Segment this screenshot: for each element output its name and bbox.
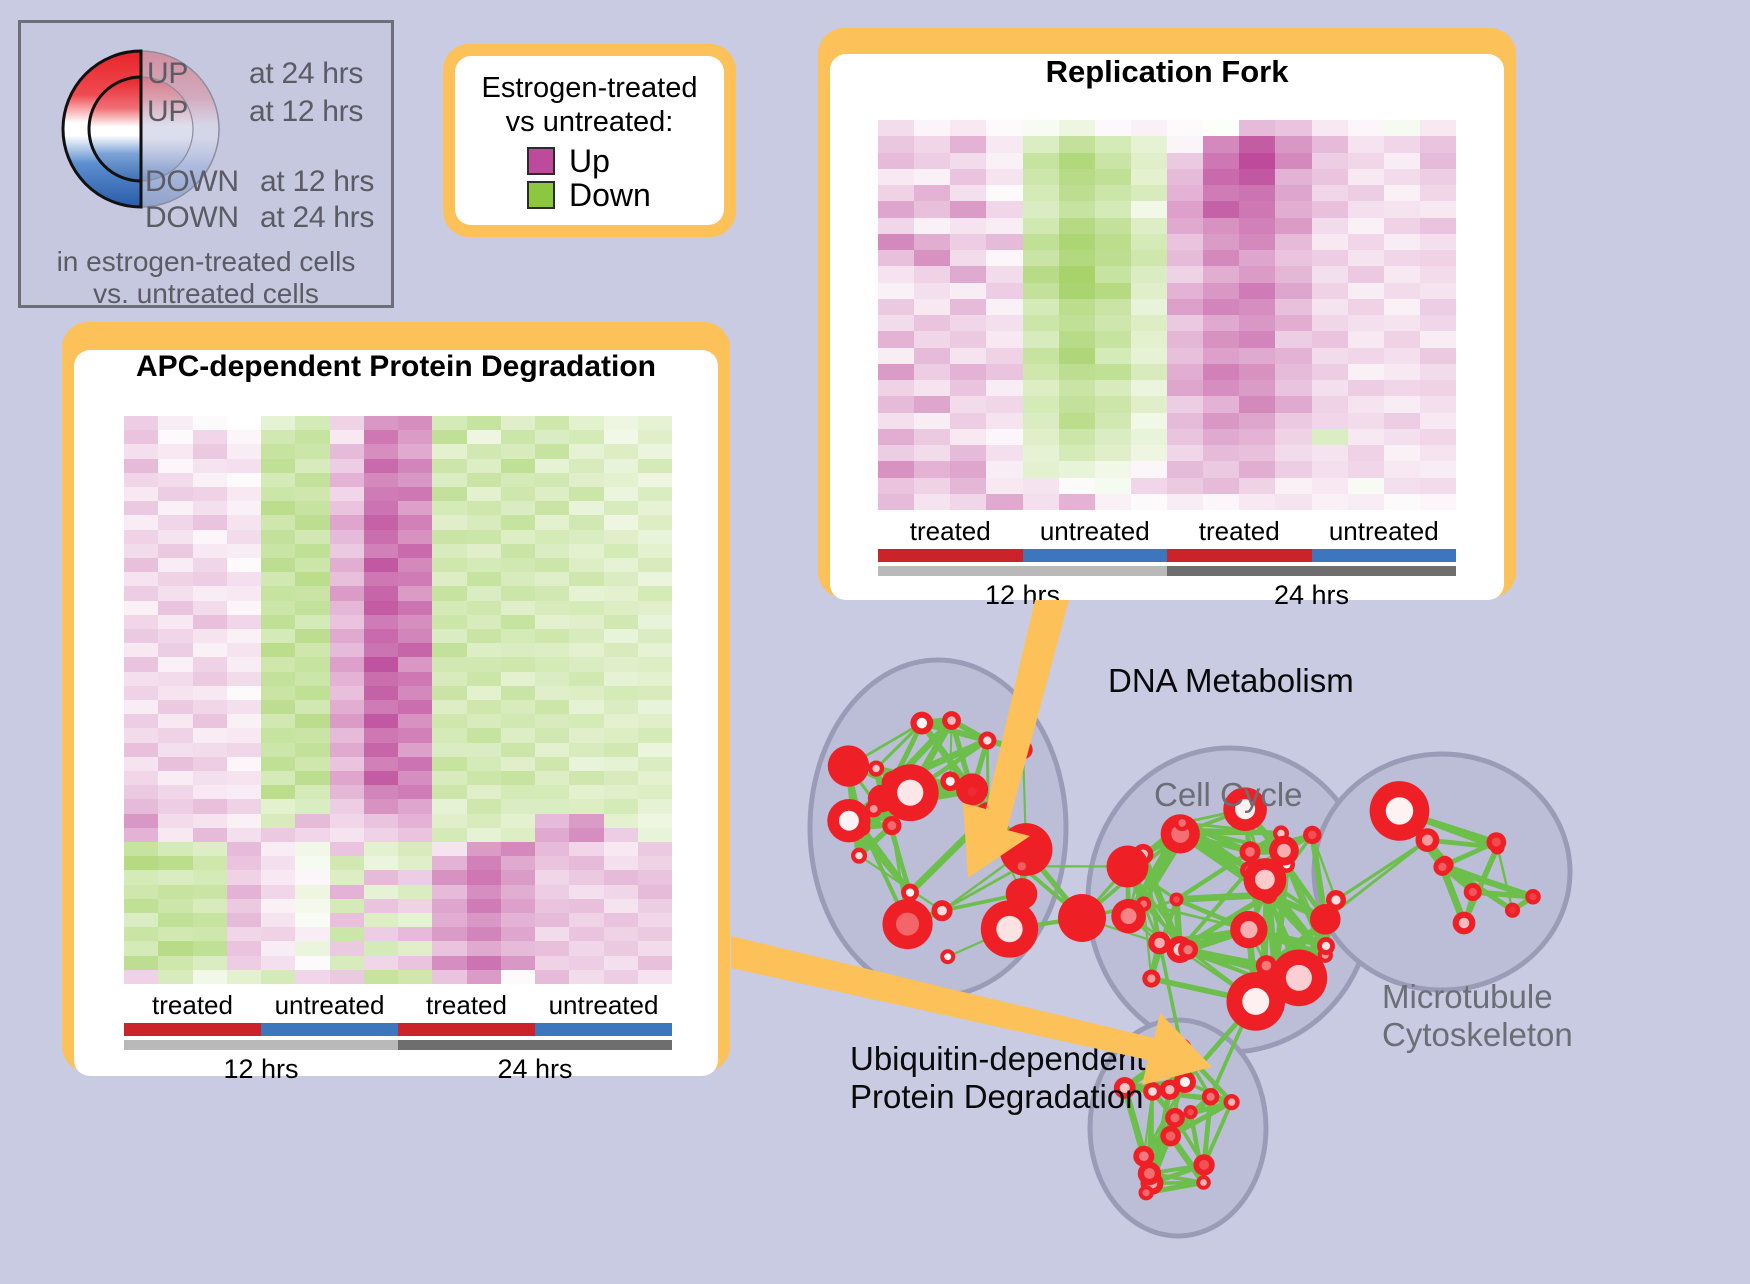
heatmap-cell [1167, 380, 1203, 396]
heatmap-cell [1095, 185, 1131, 201]
key-item-up: Up [527, 145, 724, 177]
heatmap-cell [535, 530, 569, 544]
heatmap-cell [467, 657, 501, 671]
heatmap-cell [1348, 461, 1384, 477]
heatmap-cell [604, 515, 638, 529]
network-node-core [1242, 988, 1269, 1015]
heatmap-cell [330, 459, 364, 473]
heatmap-cell [1348, 218, 1384, 234]
heatmap-cell [1420, 445, 1456, 461]
legend-row-1-time: at 12 hrs [249, 95, 363, 129]
heatmap-cell [604, 814, 638, 828]
heatmap-cell [227, 757, 261, 771]
heatmap-cell [638, 771, 672, 785]
heatmap-cell [950, 413, 986, 429]
heatmap-cell [1239, 461, 1275, 477]
heatmap-cell [1023, 153, 1059, 169]
heatmap-cell [295, 728, 329, 742]
heatmap-cell [1131, 364, 1167, 380]
heatmap-cell [604, 459, 638, 473]
heatmap-cell [1023, 494, 1059, 510]
heatmap-cell [638, 885, 672, 899]
time-color-bar [398, 1040, 672, 1050]
heatmap-cell [1384, 364, 1420, 380]
heatmap-cell [432, 686, 466, 700]
heatmap-cell [501, 927, 535, 941]
heatmap-cell [261, 743, 295, 757]
key-item-down-label: Down [569, 179, 651, 211]
heatmap-cell [914, 331, 950, 347]
heatmap-cell [1203, 478, 1239, 494]
heatmap-cell [878, 283, 914, 299]
heatmap-cell [604, 828, 638, 842]
heatmap-cell [364, 828, 398, 842]
network-node-core [1386, 797, 1413, 824]
network-node-core [996, 916, 1022, 942]
heatmap-cell [398, 814, 432, 828]
heatmap-cell [914, 380, 950, 396]
network-node-core [1166, 1131, 1176, 1141]
network-node-core [1148, 1087, 1157, 1096]
heatmap-cell [501, 941, 535, 955]
network-node-core [896, 913, 919, 936]
heatmap-cell [1239, 218, 1275, 234]
heatmap-cell [569, 459, 603, 473]
heatmap-cell [193, 842, 227, 856]
heatmap-cell [295, 601, 329, 615]
heatmap-cell [124, 586, 158, 600]
heatmap-cell [227, 799, 261, 813]
heatmap-cell [193, 430, 227, 444]
group-color-bar [124, 1023, 261, 1036]
axis-group-label: untreated [1023, 516, 1168, 547]
heatmap-cell [986, 331, 1022, 347]
heatmap-cell [158, 913, 192, 927]
heatmap-cell [1059, 380, 1095, 396]
heatmap-cell [261, 856, 295, 870]
legend-row-2-label: DOWN [145, 165, 239, 199]
heatmap-cell [193, 629, 227, 643]
heatmap-cell [638, 643, 672, 657]
heatmap-cell [467, 501, 501, 515]
heatmap-cell [1203, 218, 1239, 234]
heatmap-cell [261, 515, 295, 529]
heatmap-cell [1384, 348, 1420, 364]
heatmap-cell [1348, 348, 1384, 364]
heatmap-cell [1348, 201, 1384, 217]
network-node [851, 848, 867, 864]
heatmap-cell [638, 501, 672, 515]
heatmap-cell [878, 120, 914, 136]
heatmap-cell [330, 530, 364, 544]
heatmap-cell [432, 700, 466, 714]
heatmap-cell [295, 828, 329, 842]
network-node [931, 900, 952, 921]
heatmap-cell [193, 643, 227, 657]
heatmap-cell [501, 757, 535, 771]
axis-group-label: treated [878, 516, 1023, 547]
heatmap-cell [227, 856, 261, 870]
group-color-bar [398, 1023, 535, 1036]
heatmap-cell [501, 672, 535, 686]
heatmap-cell [398, 941, 432, 955]
heatmap-cell [1384, 494, 1420, 510]
heatmap-cell [158, 558, 192, 572]
heatmap-cell [193, 558, 227, 572]
heatmap-cell [1131, 315, 1167, 331]
heatmap-cell [193, 586, 227, 600]
heatmap-cell [227, 657, 261, 671]
heatmap-cell [604, 956, 638, 970]
heatmap-cell [330, 799, 364, 813]
heatmap-cell [535, 416, 569, 430]
heatmap-cell [330, 828, 364, 842]
heatmap-cell [1095, 120, 1131, 136]
heatmap-cell [398, 515, 432, 529]
network-node-core [1139, 1151, 1149, 1161]
network-node-core [1183, 945, 1192, 954]
heatmap-cell [1095, 348, 1131, 364]
axis-group-label: treated [124, 990, 261, 1021]
heatmap-cell [986, 299, 1022, 315]
heatmap-cell [878, 234, 914, 250]
network-node [827, 799, 870, 842]
heatmap-cell [330, 657, 364, 671]
heatmap-cell [158, 885, 192, 899]
heatmap-cell [193, 544, 227, 558]
heatmap-cell [950, 445, 986, 461]
heatmap-cell [330, 814, 364, 828]
heatmap-cell [1095, 364, 1131, 380]
heatmap-cell [914, 396, 950, 412]
heatmap-cell [1420, 120, 1456, 136]
heatmap-cell [467, 714, 501, 728]
heatmap-cell [124, 714, 158, 728]
heatmap-cell [364, 956, 398, 970]
heatmap-cell [364, 629, 398, 643]
heatmap-cell [1312, 120, 1348, 136]
heatmap-cell [501, 501, 535, 515]
heatmap-cell [227, 487, 261, 501]
time-color-bar [124, 1040, 398, 1050]
heatmap-cell [158, 842, 192, 856]
heatmap-cell [501, 615, 535, 629]
heatmap-cell [193, 515, 227, 529]
network-node-core [1277, 844, 1291, 858]
heatmap-cell [1203, 413, 1239, 429]
heatmap-cell [398, 799, 432, 813]
heatmap-cell [1312, 380, 1348, 396]
heatmap-cell [604, 501, 638, 515]
heatmap-cell [1275, 331, 1311, 347]
heatmap-cell [467, 601, 501, 615]
heatmap-cell [158, 572, 192, 586]
heatmap-cell [261, 444, 295, 458]
heatmap-cell [330, 970, 364, 984]
heatmap-cell [604, 657, 638, 671]
heatmap-cell [330, 643, 364, 657]
heatmap-cell [1312, 266, 1348, 282]
heatmap-cell [398, 601, 432, 615]
heatmap-cell [193, 657, 227, 671]
heatmap-cell [261, 870, 295, 884]
heatmap-cell [986, 266, 1022, 282]
heatmap-cell [158, 814, 192, 828]
axis-group-label: untreated [535, 990, 672, 1021]
heatmap-cell [1095, 315, 1131, 331]
heatmap-cell [878, 461, 914, 477]
heatmap-cell [1239, 494, 1275, 510]
network-node-core [1245, 847, 1255, 857]
heatmap-cell [1348, 120, 1384, 136]
heatmap-cell [193, 757, 227, 771]
gradient-legend-box: UP at 24 hrs UP at 12 hrs DOWN at 12 hrs… [18, 20, 394, 308]
network-node [978, 732, 996, 750]
heatmap-cell [1203, 136, 1239, 152]
heatmap-cell [1203, 494, 1239, 510]
heatmap-cell [569, 771, 603, 785]
heatmap-cell [1167, 266, 1203, 282]
heatmap-cell [501, 771, 535, 785]
heatmap-cell [124, 913, 158, 927]
heatmap-cell [330, 771, 364, 785]
heatmap-cell [1312, 136, 1348, 152]
heatmap-cell [604, 728, 638, 742]
heatmap-cell [1203, 201, 1239, 217]
heatmap-cell [950, 234, 986, 250]
heatmap-cell [261, 416, 295, 430]
heatmap-cell [158, 643, 192, 657]
heatmap-cell [1275, 315, 1311, 331]
heatmap-cell [878, 136, 914, 152]
network-node-core [1180, 1077, 1190, 1087]
heatmap-cell [124, 657, 158, 671]
heatmap-cell [1420, 283, 1456, 299]
heatmap-cell [124, 544, 158, 558]
heatmap-cell [1384, 299, 1420, 315]
heatmap-cell [432, 430, 466, 444]
heatmap-cell [227, 743, 261, 757]
heatmap-cell [295, 799, 329, 813]
heatmap-cell [1239, 299, 1275, 315]
heatmap-cell [1203, 120, 1239, 136]
heatmap-cell [364, 785, 398, 799]
heatmap-cell [878, 201, 914, 217]
network-node-core [1154, 938, 1164, 948]
heatmap-cell [261, 885, 295, 899]
heatmap-cell [261, 799, 295, 813]
network-node-core [1322, 942, 1330, 950]
heatmap-cell [193, 799, 227, 813]
heatmap-cell [1095, 478, 1131, 494]
heatmap-cell [501, 842, 535, 856]
heatmap-cell [364, 913, 398, 927]
heatmap-cell [604, 487, 638, 501]
heatmap-cell [261, 785, 295, 799]
heatmap-cell [158, 672, 192, 686]
heatmap-cell [193, 771, 227, 785]
heatmap-cell [1095, 169, 1131, 185]
heatmap-cell [398, 657, 432, 671]
network-node [975, 802, 1001, 828]
heatmap-cell [950, 478, 986, 494]
heatmap-cell [1312, 478, 1348, 494]
heatmap-cell [1131, 299, 1167, 315]
heatmap-cell [638, 473, 672, 487]
heatmap-cell [158, 856, 192, 870]
heatmap-cell [1420, 201, 1456, 217]
heatmap-cell [1203, 331, 1239, 347]
heatmap-cell [1312, 348, 1348, 364]
heatmap-cell [330, 913, 364, 927]
axis-group-label: treated [398, 990, 535, 1021]
pathway-network: DNA Metabolism Cell Cycle Microtubule Cy… [760, 600, 1750, 1279]
heatmap-cell [569, 544, 603, 558]
heatmap-cell [1059, 153, 1095, 169]
heatmap-cell [950, 380, 986, 396]
heatmap-cell [1384, 120, 1420, 136]
heatmap-cell [124, 643, 158, 657]
heatmap-cell [1384, 234, 1420, 250]
heatmap-cell [878, 250, 914, 266]
heatmap-cell [1420, 494, 1456, 510]
heatmap-cell [432, 544, 466, 558]
heatmap-cell [295, 885, 329, 899]
heatmap-cell [330, 757, 364, 771]
heatmap-cell [227, 672, 261, 686]
network-node [981, 900, 1038, 957]
heatmap-cell [364, 672, 398, 686]
heatmap-cell [1275, 299, 1311, 315]
heatmap-cell [1275, 153, 1311, 169]
heatmap-cell [1059, 348, 1095, 364]
heatmap-cell [432, 714, 466, 728]
heatmap-cell [261, 572, 295, 586]
heatmap-cell [569, 927, 603, 941]
heatmap-cell [158, 728, 192, 742]
network-node [962, 782, 982, 802]
heatmap-cell [158, 544, 192, 558]
heatmap-cell [432, 970, 466, 984]
heatmap-cell [261, 842, 295, 856]
heatmap-cell [950, 218, 986, 234]
heatmap-cell [914, 136, 950, 152]
heatmap-cell [467, 870, 501, 884]
heatmap-cell [604, 856, 638, 870]
heatmap-cell [1131, 266, 1167, 282]
heatmap-cell [569, 870, 603, 884]
heatmap-cell [1312, 461, 1348, 477]
heatmap-cell [295, 515, 329, 529]
heatmap-cell [1131, 136, 1167, 152]
heatmap-cell [227, 501, 261, 515]
heatmap-cell [1239, 380, 1275, 396]
heatmap-cell [364, 856, 398, 870]
heatmap-cell [1239, 331, 1275, 347]
heatmap-cell [986, 120, 1022, 136]
heatmap-cell [295, 572, 329, 586]
heatmap-cell [1059, 429, 1095, 445]
heatmap-cell [914, 185, 950, 201]
heatmap-cell [535, 586, 569, 600]
axis-group-label: untreated [1312, 516, 1457, 547]
heatmap-cell [638, 515, 672, 529]
heatmap-cell [569, 785, 603, 799]
heatmap-cell [1348, 283, 1384, 299]
heatmap-cell [1095, 201, 1131, 217]
heatmap-cell [604, 899, 638, 913]
network-node [901, 884, 919, 902]
heatmap-cell [261, 430, 295, 444]
heatmap-cell [1131, 429, 1167, 445]
heatmap-cell [467, 700, 501, 714]
heatmap-cell [1420, 250, 1456, 266]
heatmap-cell [295, 785, 329, 799]
heatmap-cell [364, 771, 398, 785]
heatmap-cell [124, 444, 158, 458]
heatmap-cell [1059, 120, 1095, 136]
axis-group-label: untreated [261, 990, 398, 1021]
network-node-core [1331, 895, 1340, 904]
network-node-core [1178, 819, 1186, 827]
heatmap-cell [986, 218, 1022, 234]
heatmap-cell [364, 714, 398, 728]
heatmap-cell [569, 515, 603, 529]
heatmap-cell [467, 572, 501, 586]
heatmap-cell [535, 615, 569, 629]
heatmap-cell [124, 785, 158, 799]
heatmap-cell [364, 572, 398, 586]
heatmap-cell [1384, 218, 1420, 234]
heatmap-cell [124, 558, 158, 572]
heatmap-cell [330, 700, 364, 714]
heatmap-cell [295, 487, 329, 501]
heatmap-cell [1095, 218, 1131, 234]
heatmap-cell [193, 615, 227, 629]
heatmap-cell [569, 799, 603, 813]
heatmap-cell [1059, 461, 1095, 477]
heatmap-cell [535, 856, 569, 870]
heatmap-cell [501, 799, 535, 813]
network-node [1058, 894, 1106, 942]
heatmap-cell [914, 299, 950, 315]
heatmap-cell [878, 299, 914, 315]
heatmap-cell [261, 544, 295, 558]
heatmap-cell [193, 970, 227, 984]
heatmap-cell [1203, 380, 1239, 396]
heatmap-cell [193, 743, 227, 757]
heatmap-cell [569, 444, 603, 458]
heatmap-cell [1239, 364, 1275, 380]
heatmap-cell [1384, 331, 1420, 347]
heatmap-cell [1059, 218, 1095, 234]
heatmap-cell [227, 956, 261, 970]
heatmap-cell [1348, 234, 1384, 250]
heatmap-cell [295, 629, 329, 643]
heatmap-cell [501, 586, 535, 600]
heatmap-cell [1239, 478, 1275, 494]
heatmap-cell [604, 586, 638, 600]
network-node [1239, 841, 1260, 862]
heatmap-cell [261, 657, 295, 671]
heatmap-cell [878, 315, 914, 331]
heatmap-cell [467, 814, 501, 828]
heatmap-cell [638, 856, 672, 870]
heatmap-cell [227, 913, 261, 927]
network-node [1505, 903, 1520, 918]
heatmap-cell [638, 558, 672, 572]
heatmap-cell [227, 430, 261, 444]
